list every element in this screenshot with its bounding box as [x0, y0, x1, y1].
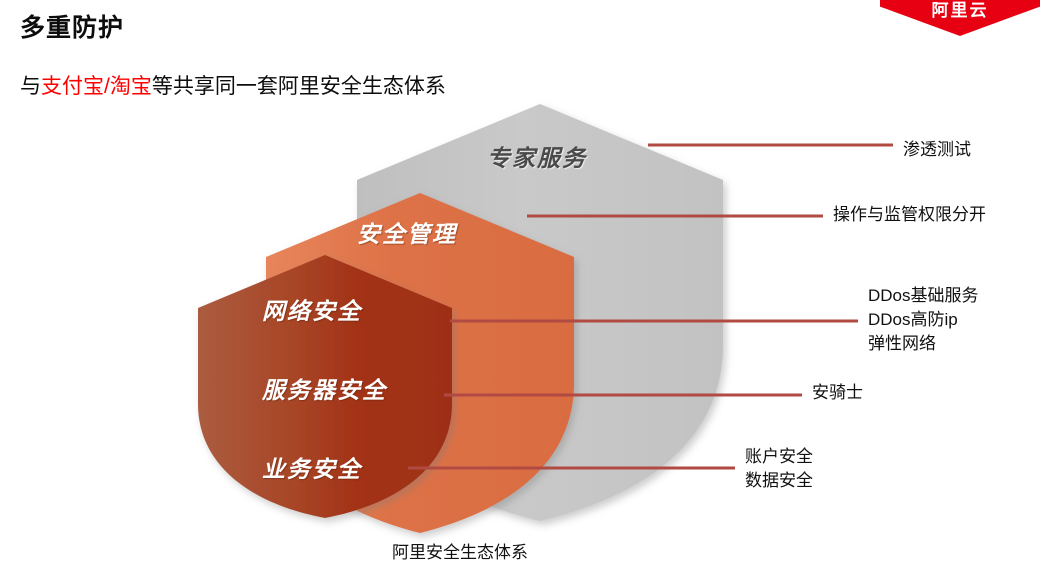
diagram-caption: 阿里安全生态体系	[392, 538, 528, 563]
corner-banner-label: 阿里云	[880, 0, 1040, 21]
shield-label-network-security: 网络安全	[262, 292, 362, 326]
shield-label-business-security: 业务安全	[262, 450, 362, 484]
callout-privilege-separation: 操作与监管权限分开	[833, 203, 986, 227]
shield-label-security-management: 安全管理	[357, 215, 457, 249]
callout-penetration-test: 渗透测试	[903, 138, 971, 162]
callout-aegis: 安骑士	[812, 381, 863, 405]
subtitle-prefix: 与	[20, 75, 41, 98]
shield-label-server-security: 服务器安全	[262, 371, 387, 405]
callout-connector-lines	[408, 145, 893, 468]
page-title: 多重防护	[20, 8, 124, 44]
shield-label-expert-service: 专家服务	[487, 139, 587, 173]
corner-banner: 阿里云	[880, 0, 1040, 36]
page-title-text: 多重防护	[20, 14, 124, 42]
callout-ddos-services: DDos基础服务 DDos高防ip 弹性网络	[868, 284, 979, 356]
subtitle-highlight: 支付宝/淘宝	[41, 75, 152, 98]
callout-account-data-security: 账户安全 数据安全	[745, 445, 813, 493]
subtitle-suffix: 等共享同一套阿里安全生态体系	[152, 75, 446, 98]
page-subtitle: 与支付宝/淘宝等共享同一套阿里安全生态体系	[20, 70, 446, 100]
